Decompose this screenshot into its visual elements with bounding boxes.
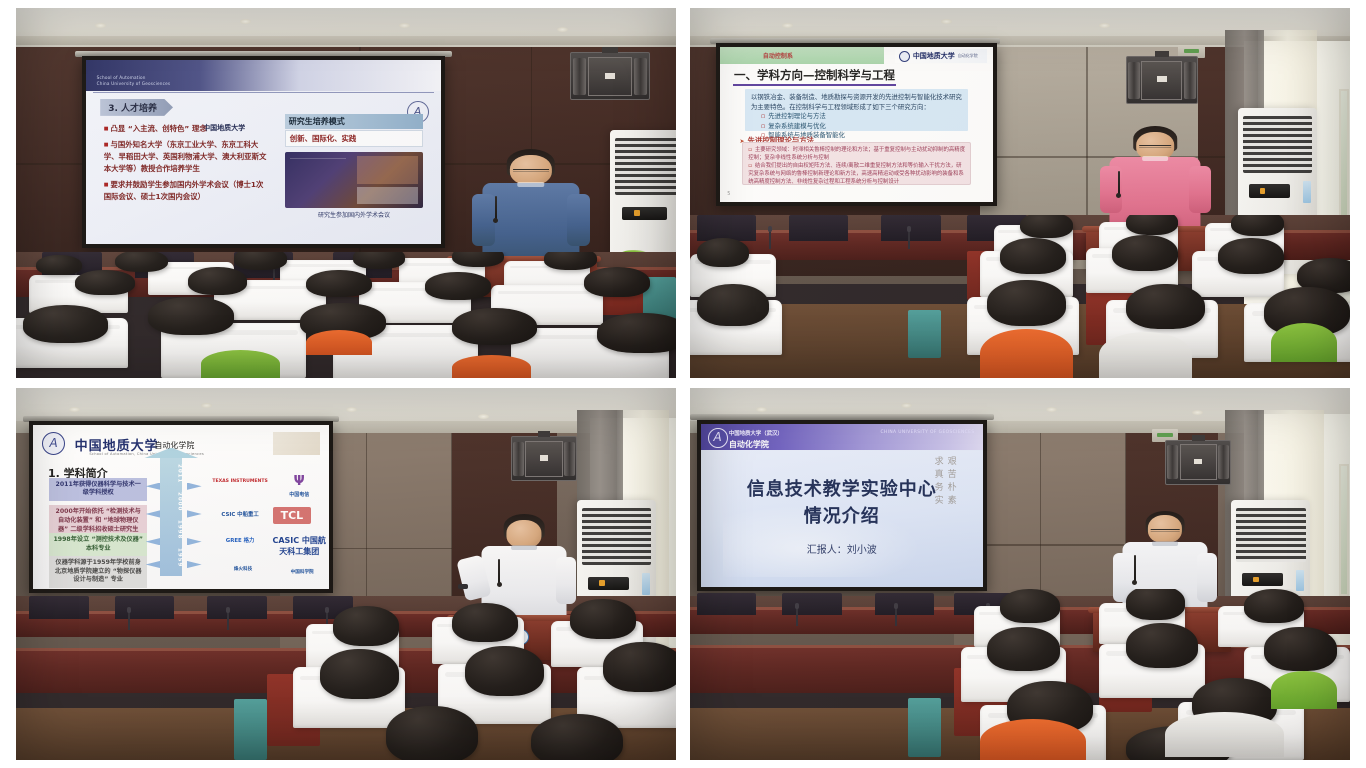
audience-head <box>1000 589 1059 623</box>
downlight-icon <box>756 407 767 412</box>
downlight-icon <box>1046 407 1057 412</box>
slide-page-number: 5 <box>727 191 730 197</box>
audience-head <box>188 267 247 295</box>
bullet-item: 要求并鼓励学生参加国内外学术会议（博士1次国际会议、硕士1次国内会议） <box>104 179 271 203</box>
intro-paragraph: 以钢铁冶金、装备制造、地质勘探与资源开发的先进控制与智能化技术研究为主要特色。在… <box>751 93 962 112</box>
topbar-label: 自动控制系 <box>763 51 793 60</box>
header-divider <box>93 92 434 93</box>
arrow-right-icon <box>187 483 202 490</box>
ac-vent <box>615 138 676 195</box>
audience-head <box>333 606 399 645</box>
partner-logo: GREE 格力 <box>211 536 270 544</box>
audience-head <box>353 252 406 268</box>
audience-head <box>306 270 372 298</box>
audience-head <box>987 280 1066 326</box>
audience-head <box>1126 623 1199 667</box>
speaker-grille-center <box>525 441 562 477</box>
photo-bottom-right: 中国地质大学（武汉） 自动化学院 CHINA UNIVERSITY OF GEO… <box>690 388 1350 760</box>
arrow-right-icon <box>187 538 202 545</box>
audience-shoulders <box>201 350 280 378</box>
slide-university-en: CHINA UNIVERSITY OF GEOSCIENCES <box>880 430 974 435</box>
slide-university-cn: 中国地质大学（武汉） <box>729 429 783 437</box>
speaker-grille-right <box>1184 62 1196 99</box>
screen-surface: 自动控制系 中国地质大学 自动化学院 一、学科方向—控制科学与工程 以钢铁冶金、… <box>720 47 993 202</box>
speaker-mount <box>1155 51 1169 57</box>
slide-header-english: School of Automation China University of… <box>97 75 171 86</box>
audience-head <box>603 642 676 692</box>
audience-head <box>1126 215 1179 235</box>
slide-presenter-label: 汇报人：刘小波 <box>701 541 983 556</box>
audience-area <box>690 215 1350 378</box>
photo-bottom-left: 中国地质大学 自动化学院 School of Automation, China… <box>16 388 676 760</box>
downlight-icon <box>782 23 793 28</box>
slide-logo-block: 中国地质大学 自动化学院 <box>895 49 988 63</box>
slide-intro-box: 以钢铁冶金、装备制造、地质勘探与资源开发的先进控制与智能化技术研究为主要特色。在… <box>745 89 968 131</box>
lapel-microphone <box>495 196 497 220</box>
slide-main-title: 信息技术教学实验中心 情况介绍 <box>701 477 983 529</box>
slide-title-rule <box>733 84 897 86</box>
speaker-grille-center <box>1180 444 1217 480</box>
presenter-blue-polo <box>478 149 584 267</box>
ac-display-panel <box>1249 184 1290 197</box>
downlight-icon <box>201 403 212 408</box>
arrow-left-icon <box>146 510 161 517</box>
downlight-icon <box>557 27 568 32</box>
arrow-right-icon <box>187 510 202 517</box>
slide-discipline-direction: 自动控制系 中国地质大学 自动化学院 一、学科方向—控制科学与工程 以钢铁冶金、… <box>720 47 993 202</box>
ac-sticker <box>1296 570 1304 591</box>
downlight-icon <box>1099 23 1110 28</box>
audience-head <box>1126 589 1185 620</box>
audience-head <box>386 706 478 760</box>
screen-surface: School of Automation China University of… <box>86 60 441 244</box>
slide-detail-box: 主要研究领域：时滞相关鲁棒控制的理论和方法；基于重复控制与主动扰动抑制的高精度控… <box>742 142 971 185</box>
lapel-microphone <box>498 559 500 584</box>
partner-logo: TEXAS INSTRUMENTS <box>211 479 270 484</box>
presenter-collar <box>1152 541 1178 546</box>
title-line-2: 情况介绍 <box>804 506 880 527</box>
timeline-year: 2011 <box>160 463 182 484</box>
arrow-left-icon <box>146 561 161 568</box>
partner-logo: 烽火科技 <box>211 566 276 572</box>
glasses-icon <box>1139 145 1171 148</box>
arrow-right-icon <box>187 561 202 568</box>
glasses-icon <box>513 169 549 172</box>
audience-head <box>234 252 287 270</box>
audience-head <box>597 313 676 353</box>
audience-head <box>531 714 623 760</box>
window-pane <box>1339 89 1349 217</box>
lapel-microphone <box>1118 171 1120 195</box>
title-line-1: 信息技术教学实验中心 <box>747 479 937 500</box>
audience-shoulders <box>980 719 1086 760</box>
downlight-icon <box>478 414 489 419</box>
audience-shoulders <box>1271 671 1337 709</box>
partner-logo: TCL <box>273 507 312 524</box>
downlight-icon <box>399 23 410 28</box>
ceiling-beam <box>16 36 676 46</box>
audience-head <box>1112 235 1178 271</box>
direction-item: 复杂系统建模与优化 <box>761 122 962 132</box>
slide-topbar: 自动控制系 <box>720 47 884 64</box>
audience-head <box>1244 589 1303 623</box>
detail-item: 主要研究领域：时滞相关鲁棒控制的理论和方法；基于重复控制与主动扰动抑制的高精度控… <box>748 146 965 162</box>
downlight-icon <box>941 19 952 24</box>
speaker-grille-right <box>634 58 647 95</box>
lecture-room-scene: School of Automation China University of… <box>16 8 676 378</box>
presenter-arm-right <box>1189 166 1211 213</box>
logo-school-cn: 自动化学院 <box>958 53 978 59</box>
school-seal-icon <box>899 51 910 62</box>
right-box-body: 创新、国际化、实践 <box>285 130 423 147</box>
speaker-grille-right <box>1218 445 1229 479</box>
projection-screen: 中国地质大学 自动化学院 School of Automation, China… <box>29 421 333 592</box>
photo-collage: School of Automation China University of… <box>0 0 1366 768</box>
photo-top-right: 自动控制系 中国地质大学 自动化学院 一、学科方向—控制科学与工程 以钢铁冶金、… <box>690 8 1350 378</box>
downlight-icon <box>95 23 106 28</box>
audience-head <box>425 272 491 300</box>
direction-item: 先进控制理论与方法 <box>761 112 962 122</box>
lecture-room-scene: 中国地质大学（武汉） 自动化学院 CHINA UNIVERSITY OF GEO… <box>690 388 1350 760</box>
timeline-year: 2000 <box>160 491 182 512</box>
jbl-wall-speaker <box>570 52 649 100</box>
ac-vent <box>1236 508 1306 562</box>
milestone-box: 2011年获得仪器科学与技术一级学科授权 <box>49 478 147 501</box>
audience-head <box>584 267 650 297</box>
downlight-icon <box>901 403 912 408</box>
audience-head <box>148 297 234 335</box>
slide-bullet-list: 凸显 “入主流、创特色” 理念 与国外知名大学（东京工业大学、东京工科大学、早稻… <box>104 123 271 207</box>
speaker-grille-center <box>588 57 633 96</box>
slide-image-caption: 研究生参加国内外学术会议 <box>285 210 423 219</box>
audience-head <box>1126 284 1205 330</box>
glasses-icon <box>1151 529 1180 532</box>
downlight-icon <box>346 407 357 412</box>
school-seal-icon <box>708 428 728 448</box>
audience-head <box>544 252 597 270</box>
audience-head <box>697 238 750 267</box>
window-pane <box>1339 464 1349 596</box>
slide-embedded-photo <box>285 152 423 207</box>
presenter-arm-right <box>567 194 590 246</box>
detail-item: 结合我们提出的自由权矩阵方法、连续/离散二维重复控制方法和等价输入干扰方法，研究… <box>748 162 965 186</box>
audience-head <box>697 284 770 326</box>
slide-talent-cultivation: School of Automation China University of… <box>86 60 441 244</box>
milestone-box: 1998年设立 “测控技术及仪器” 本科专业 <box>49 533 147 556</box>
audience-head <box>1231 215 1284 236</box>
school-seal-icon <box>42 432 65 455</box>
audience-head <box>1218 238 1284 274</box>
slide-section-tag: 3. 人才培养 <box>100 99 173 116</box>
header-en-line2: China University of Geosciences <box>97 81 171 86</box>
photo-top-left: School of Automation China University of… <box>16 8 676 378</box>
logo-university-cn: 中国地质大学 <box>913 51 955 61</box>
audience-area <box>16 581 676 760</box>
ac-display-panel <box>1242 573 1283 586</box>
right-box-title: 研究生培养模式 <box>285 114 423 129</box>
speaker-grille-left <box>1167 445 1178 479</box>
partner-logo: CASIC 中国航天科工集团 <box>270 535 329 557</box>
audience-head <box>465 646 544 696</box>
speaker-grille-right <box>564 442 575 476</box>
ac-display-panel <box>622 207 667 220</box>
projection-screen: School of Automation China University of… <box>82 56 445 248</box>
slide-title: 一、学科方向—控制科学与工程 <box>734 67 895 83</box>
partner-logo: 中国电信 <box>273 491 326 498</box>
speaker-grille-left <box>573 58 586 95</box>
presenter-collar <box>1142 156 1168 161</box>
lecture-room-scene: 自动控制系 中国地质大学 自动化学院 一、学科方向—控制科学与工程 以钢铁冶金、… <box>690 8 1350 378</box>
partner-logo-mark-icon: Ψ <box>279 474 320 489</box>
audience-shoulders <box>1099 332 1191 378</box>
audience-shoulders <box>306 330 372 355</box>
downlight-icon <box>69 407 80 412</box>
timeline-year: 1959 <box>160 547 182 568</box>
audience-head <box>1020 215 1073 238</box>
audience-shoulders <box>452 355 531 378</box>
audience-head <box>1264 627 1337 671</box>
jbl-wall-speaker <box>1165 440 1231 485</box>
speaker-mount <box>538 431 551 437</box>
audience-head <box>1000 238 1066 274</box>
calligraphy-decoration <box>273 432 320 455</box>
jbl-wall-speaker <box>1126 56 1199 104</box>
audience-head <box>320 649 399 699</box>
audience-shoulders <box>1271 323 1337 362</box>
ac-vent <box>1243 116 1313 173</box>
seat-frame <box>908 310 941 359</box>
audience-head <box>36 255 82 275</box>
audience-head <box>452 308 538 346</box>
screen-surface: 中国地质大学 自动化学院 School of Automation, China… <box>33 425 329 588</box>
seat-frame <box>908 698 941 756</box>
slide-school-cn: 自动化学院 <box>729 439 769 450</box>
speaker-grille-left <box>513 442 524 476</box>
ac-sticker <box>1303 181 1311 203</box>
audience-head <box>75 270 134 295</box>
screen-surface: 中国地质大学（武汉） 自动化学院 CHINA UNIVERSITY OF GEO… <box>701 424 983 587</box>
projection-screen: 自动控制系 中国地质大学 自动化学院 一、学科方向—控制科学与工程 以钢铁冶金、… <box>716 43 997 206</box>
speaker-grille-center <box>1141 61 1182 100</box>
audience-area <box>690 589 1350 760</box>
audience-head <box>452 603 518 642</box>
arrow-left-icon <box>146 538 161 545</box>
jbl-wall-speaker <box>511 436 577 481</box>
slide-title-page: 中国地质大学（武汉） 自动化学院 CHINA UNIVERSITY OF GEO… <box>701 424 983 587</box>
timeline-arrow-icon: 2011 2000 1998 1959 <box>160 458 182 575</box>
audience-shoulders <box>1165 712 1284 756</box>
bullet-item: 凸显 “入主流、创特色” 理念 <box>104 123 271 135</box>
speaker-grille-left <box>1128 62 1140 99</box>
timeline-year: 1998 <box>160 519 182 540</box>
audience-head <box>987 627 1060 671</box>
ac-vent <box>582 508 652 565</box>
projection-screen: 中国地质大学（武汉） 自动化学院 CHINA UNIVERSITY OF GEO… <box>697 420 987 591</box>
slide-discipline-intro: 中国地质大学 自动化学院 School of Automation, China… <box>33 425 329 588</box>
audience-head <box>23 305 109 343</box>
presenter-collar <box>511 545 537 550</box>
partner-logo: 中国科学院 <box>276 569 329 575</box>
lecture-room-scene: 中国地质大学 自动化学院 School of Automation, China… <box>16 388 676 760</box>
presenter-collar <box>517 182 544 187</box>
audience-head <box>115 252 168 272</box>
audience-shoulders <box>980 329 1072 378</box>
lapel-microphone <box>1134 555 1136 582</box>
seat-frame <box>234 699 267 760</box>
audience-head <box>452 252 505 267</box>
presenter-arm-left <box>472 194 495 246</box>
speaker-mount <box>1192 435 1205 441</box>
audience-area <box>16 252 676 378</box>
arrow-left-icon <box>146 483 161 490</box>
audience-head <box>570 599 636 638</box>
header-en-line1: School of Automation <box>97 75 146 80</box>
bullet-item: 与国外知名大学（东京工业大学、东京工科大学、早稻田大学、英国利物浦大学、澳大利亚… <box>104 139 271 175</box>
speaker-mount <box>602 47 617 53</box>
partner-logo: CSIC 中船重工 <box>211 510 270 518</box>
